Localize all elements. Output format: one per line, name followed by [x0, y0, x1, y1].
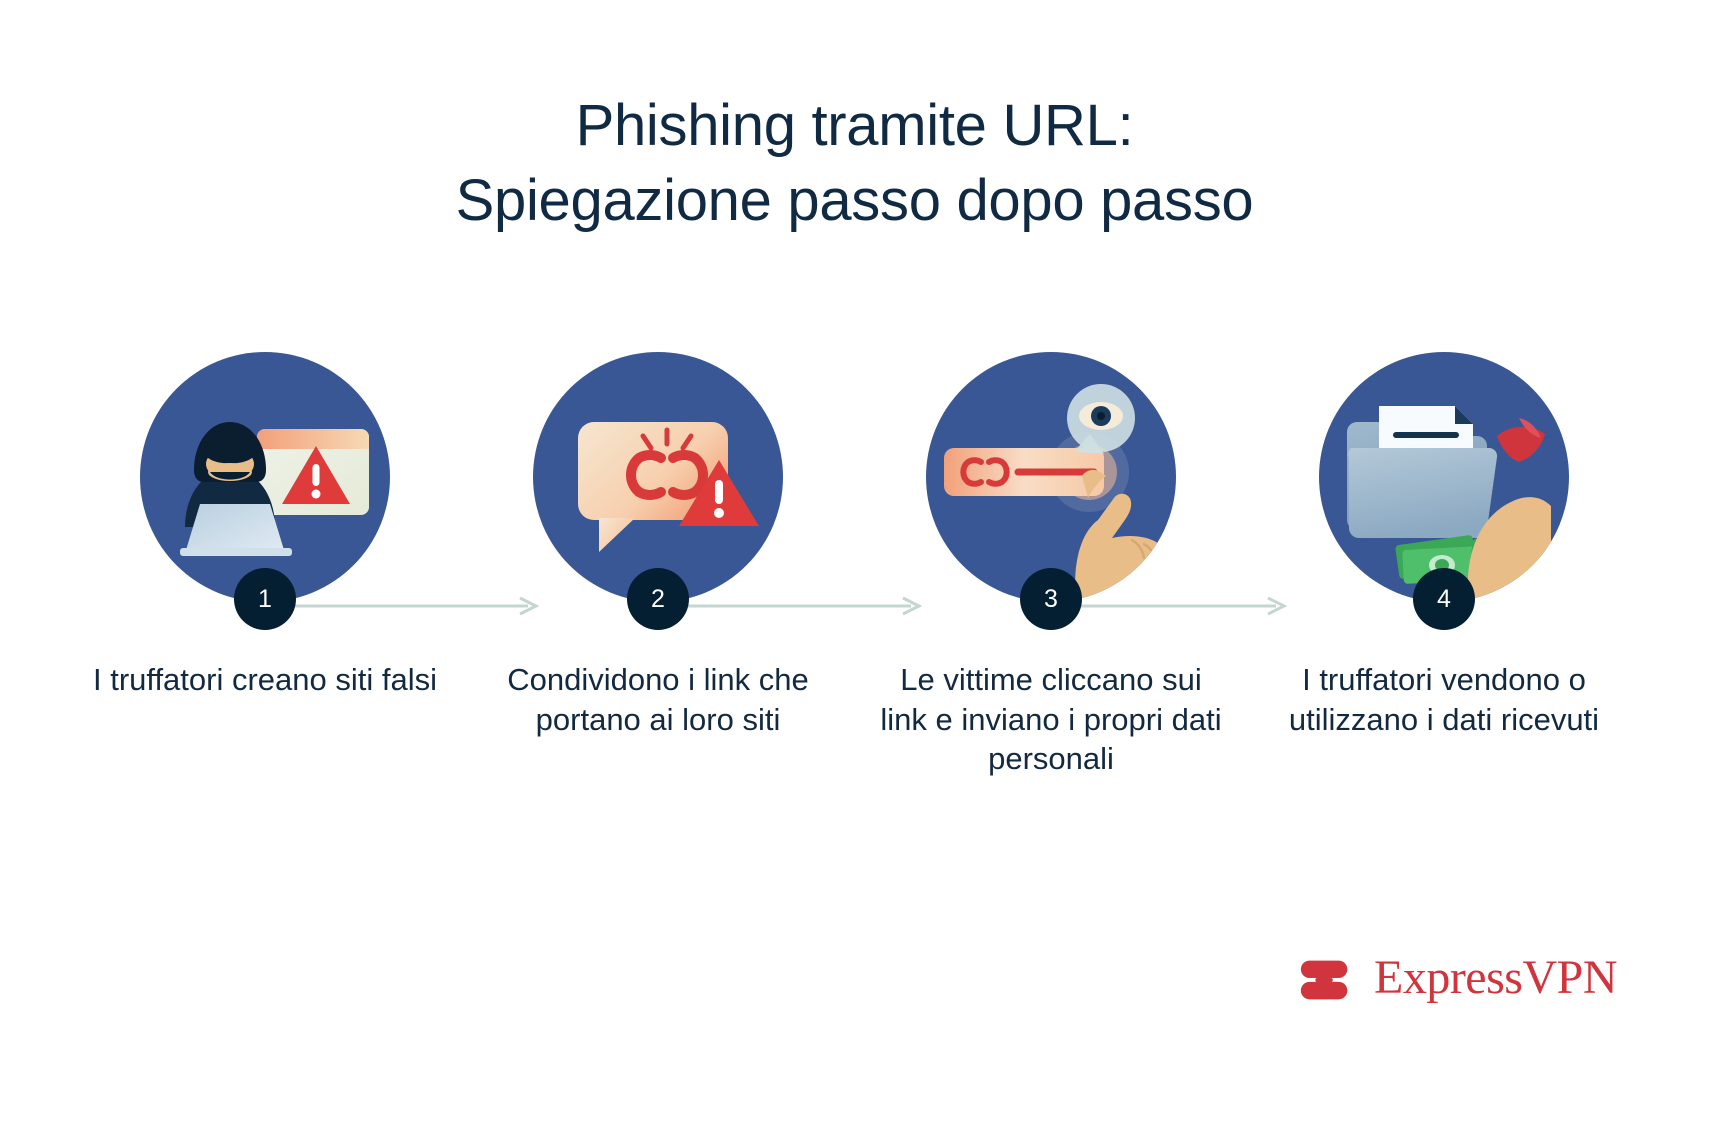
step-3-badge: 3	[1020, 568, 1082, 630]
step-2-circle-wrap: 2	[533, 352, 783, 602]
step-1-caption: I truffatori creano siti falsi	[90, 660, 440, 700]
arrow-step-1-to-2	[292, 595, 540, 617]
expressvpn-logo: ExpressVPN	[1296, 947, 1617, 1009]
step-1-badge: 1	[234, 568, 296, 630]
message-broken-link-warning-icon	[533, 352, 783, 602]
step-1-circle	[140, 352, 390, 602]
step-3-circle-wrap: 3	[926, 352, 1176, 602]
step-4-badge: 4	[1413, 568, 1475, 630]
step-2-caption: Condividono i link che portano ai loro s…	[483, 660, 833, 739]
step-2-badge: 2	[627, 568, 689, 630]
arrow-step-2-to-3	[675, 595, 923, 617]
step-1-circle-wrap: 1	[140, 352, 390, 602]
steps-row: 1 I truffatori creano siti falsi	[80, 352, 1629, 779]
click-link-eye-icon	[926, 352, 1176, 602]
step-1: 1 I truffatori creano siti falsi	[80, 352, 450, 700]
step-2-circle	[533, 352, 783, 602]
page-title: Phishing tramite URL: Spiegazione passo …	[0, 88, 1709, 239]
expressvpn-wordmark: ExpressVPN	[1374, 954, 1617, 1002]
step-3-caption: Le vittime cliccano sui link e inviano i…	[876, 660, 1226, 779]
folder-documents-money-icon	[1319, 352, 1569, 602]
step-4-circle	[1319, 352, 1569, 602]
page-title-line-2: Spiegazione passo dopo passo	[0, 163, 1709, 238]
page-title-line-1: Phishing tramite URL:	[0, 88, 1709, 163]
step-4-circle-wrap: 4	[1319, 352, 1569, 602]
step-3-circle	[926, 352, 1176, 602]
step-4-caption: I truffatori vendono o utilizzano i dati…	[1269, 660, 1619, 739]
hacker-laptop-warning-icon	[140, 352, 390, 602]
step-3: 3 Le vittime cliccano sui link e inviano…	[866, 352, 1236, 779]
step-2: 2 Condividono i link che portano ai loro…	[473, 352, 843, 739]
expressvpn-e-mark-icon	[1296, 947, 1358, 1009]
step-4: 4 I truffatori vendono o utilizzano i da…	[1259, 352, 1629, 739]
